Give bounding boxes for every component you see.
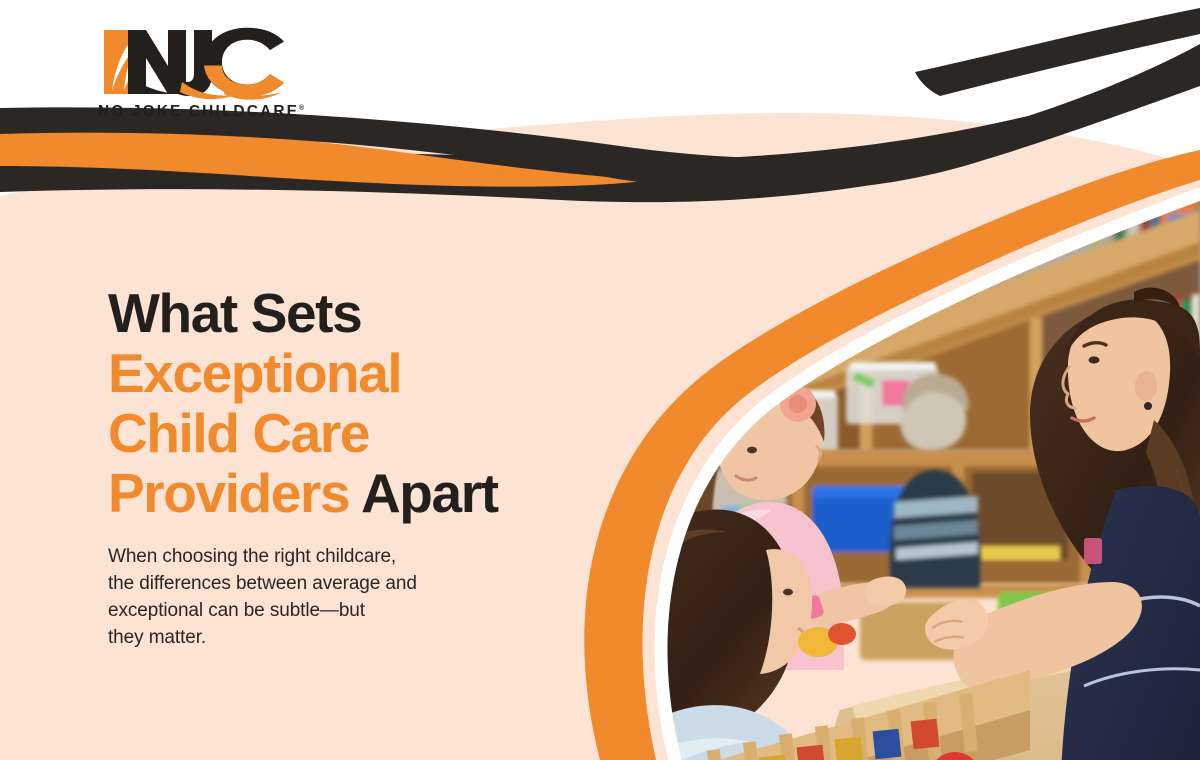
hero-photo [560,150,1200,760]
subtitle-line-3: exceptional can be subtle—but [108,597,578,624]
brand-logo[interactable]: NO JOKE CHILDCARE® [98,24,298,124]
promo-banner: NO JOKE CHILDCARE® What Sets Exceptional… [0,0,1200,760]
subtitle: When choosing the right childcare, the d… [108,543,578,651]
njc-logo-mark [98,24,298,102]
headline-line-4-apart: Apart [361,462,498,524]
headline-line-4: Providers Apart [108,463,578,523]
headline-line-3: Child Care [108,403,578,463]
logo-tagline: NO JOKE CHILDCARE® [98,103,298,121]
page-title: What Sets Exceptional Child Care Provide… [108,283,578,523]
headline-line-1: What Sets [108,283,578,343]
headline-line-4-dark [349,462,361,524]
logo-trademark: ® [299,105,306,112]
hero-photo-panel [560,150,1200,760]
headline-line-2: Exceptional [108,343,578,403]
copy-block: What Sets Exceptional Child Care Provide… [108,283,578,651]
subtitle-line-1: When choosing the right childcare, [108,543,578,570]
logo-tagline-text: NO JOKE CHILDCARE [98,103,299,120]
subtitle-line-2: the differences between average and [108,570,578,597]
headline-line-4-orange: Providers [108,462,349,524]
subtitle-line-4: they matter. [108,624,578,651]
